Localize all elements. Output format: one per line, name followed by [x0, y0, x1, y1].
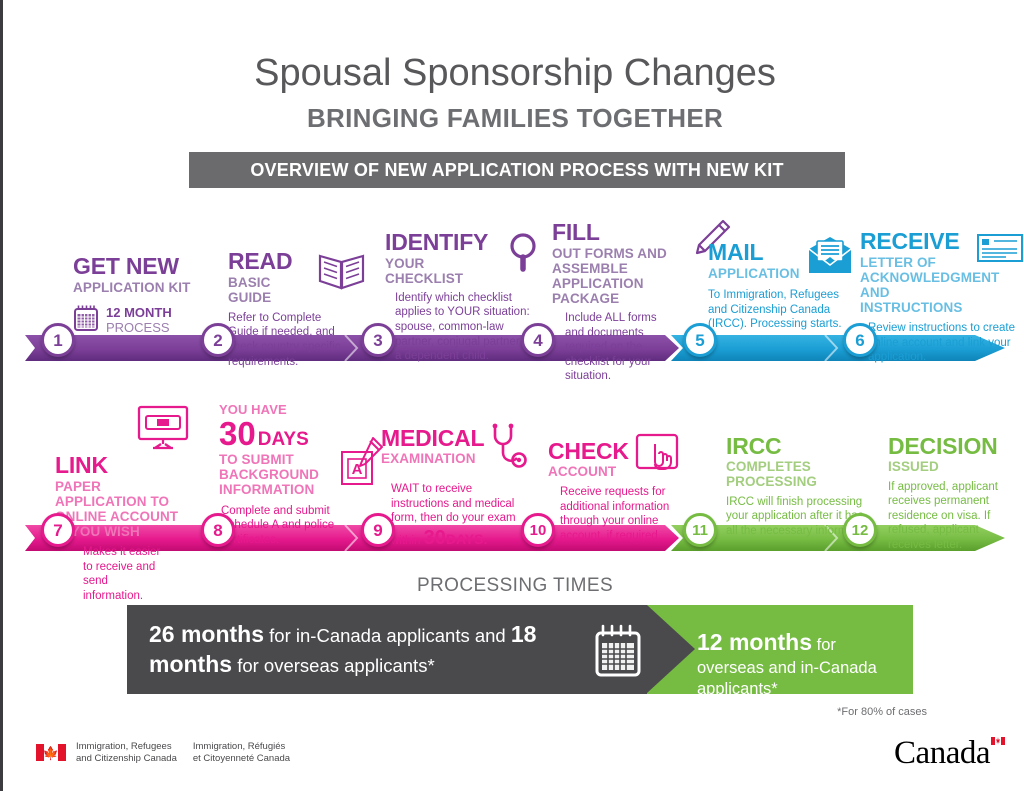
step-circle-5[interactable]: 5	[683, 323, 717, 357]
step-number-10: 10	[530, 523, 547, 538]
step-9-subheading: EXAMINATION	[381, 451, 484, 466]
overview-banner-text: OVERVIEW OF NEW APPLICATION PROCESS WITH…	[250, 160, 783, 181]
step-number-6: 6	[855, 332, 864, 349]
step-8-heading-number: 30	[219, 418, 256, 449]
step-circle-11[interactable]: 11	[683, 513, 717, 547]
step-6-heading: RECEIVE	[860, 230, 972, 253]
canada-wordmark-flag-icon	[991, 737, 1005, 745]
step-8[interactable]: YOU HAVE 30 DAYS TO SUBMIT BACKGROUND IN…	[219, 403, 379, 548]
step-8-heading-unit: DAYS	[258, 429, 309, 451]
step-number-5: 5	[695, 332, 704, 349]
envelope-icon	[805, 235, 855, 282]
step-10-body: Receive requests for additional informat…	[548, 485, 684, 543]
step-12-heading: DECISION	[888, 435, 1024, 458]
processing-times-left-text: 26 months for in-Canada applicants and 1…	[149, 620, 569, 680]
step-11-heading: IRCC	[726, 435, 886, 458]
letter-icon	[976, 232, 1024, 269]
dept-fr-line2: et Citoyenneté Canada	[193, 753, 290, 765]
magnifier-icon	[505, 231, 545, 278]
step-circle-7[interactable]: 7	[41, 513, 75, 547]
step-6-subheading: LETTER OF ACKNOWLEDGMENT AND INSTRUCTION…	[860, 255, 972, 315]
calendar-icon	[591, 623, 645, 684]
pt-left-num1: 26 months	[149, 621, 264, 647]
step-3-body: Identify which checklist applies to YOUR…	[385, 291, 537, 364]
step-circle-1[interactable]: 1	[41, 323, 75, 357]
canada-wordmark-text: Canada	[894, 735, 990, 771]
step-10-heading: CHECK	[548, 440, 629, 463]
step-circle-9[interactable]: 9	[361, 513, 395, 547]
step-1-badge-sub: PROCESS	[106, 320, 172, 335]
step-number-1: 1	[53, 332, 62, 349]
step-3-heading: IDENTIFY	[385, 231, 502, 254]
step-number-12: 12	[852, 523, 869, 538]
step-11-subheading: COMPLETES PROCESSING	[726, 459, 886, 489]
dept-en-line2: and Citizenship Canada	[76, 753, 177, 765]
canada-flag-icon: 🍁	[36, 744, 66, 761]
process-row-1: 1 2 3 4 5 6 GET NEW APPLICATION KIT	[3, 205, 1024, 380]
step-12-subheading: ISSUED	[888, 459, 1024, 474]
step-1-heading: GET NEW	[73, 255, 203, 278]
step-2-subheading: BASIC GUIDE	[228, 275, 312, 305]
monitor-link-icon	[135, 403, 191, 456]
step-number-9: 9	[373, 522, 382, 539]
page-subtitle: BRINGING FAMILIES TOGETHER	[3, 103, 1024, 134]
step-5[interactable]: MAIL APPLICATION To	[708, 241, 856, 332]
step-7-subheading: PAPER APPLICATION TO ONLINE ACCOUNT IF Y…	[55, 479, 191, 539]
step-1[interactable]: GET NEW APPLICATION KIT	[73, 255, 203, 337]
pt-right-num: 12 months	[697, 629, 812, 655]
step-number-3: 3	[373, 332, 382, 349]
process-row-2: 7 8 9 10 11 12 LINK	[3, 395, 1024, 570]
step-5-body: To Immigration, Refugees and Citizenship…	[708, 288, 844, 332]
step-9-body-emph: 30	[424, 527, 446, 549]
page-title: Spousal Sponsorship Changes	[3, 52, 1024, 95]
step-4-body: Include ALL forms and documents required…	[552, 311, 676, 384]
step-9-body: WAIT to receive instructions and medical…	[381, 482, 521, 551]
step-circle-2[interactable]: 2	[201, 323, 235, 357]
form-pencil-icon: A	[339, 436, 385, 495]
step-9[interactable]: MEDICAL EXAMINATION WAIT to receive inst…	[381, 427, 541, 551]
step-2-body: Refer to Complete Guide if needed, and c…	[228, 311, 346, 369]
step-12[interactable]: DECISION ISSUED If approved, applicant r…	[888, 435, 1024, 553]
stethoscope-icon	[488, 423, 528, 476]
step-7-heading: LINK	[55, 454, 205, 477]
step-circle-10[interactable]: 10	[521, 513, 555, 547]
processing-times-label: PROCESSING TIMES	[3, 575, 1024, 597]
dept-fr-line1: Immigration, Réfugiés	[193, 741, 290, 753]
processing-times-note: *For 80% of cases	[3, 706, 927, 718]
step-2-heading: READ	[228, 250, 312, 273]
step-5-subheading: APPLICATION	[708, 266, 800, 281]
step-circle-12[interactable]: 12	[843, 513, 877, 547]
step-8-subheading: TO SUBMIT BACKGROUND INFORMATION	[219, 452, 337, 497]
step-number-11: 11	[692, 523, 708, 538]
step-number-2: 2	[213, 332, 222, 349]
step-number-7: 7	[53, 522, 62, 539]
infographic-page: Spousal Sponsorship Changes BRINGING FAM…	[3, 0, 1024, 791]
step-3-subheading: YOUR CHECKLIST	[385, 256, 502, 286]
step-4[interactable]: FILL OUT FORMS AND ASSEMBLE APPLICATION …	[552, 221, 702, 384]
open-book-icon	[316, 250, 368, 297]
step-12-body: If approved, applicant receives permanen…	[888, 480, 1020, 553]
step-4-subheading: OUT FORMS AND ASSEMBLE APPLICATION PACKA…	[552, 246, 686, 306]
step-circle-6[interactable]: 6	[843, 323, 877, 357]
step-2[interactable]: READ BASIC GUIDE Refer to Complete Guide…	[228, 250, 368, 369]
maple-leaf-icon: 🍁	[43, 746, 59, 759]
step-number-8: 8	[213, 522, 222, 539]
step-1-subheading: APPLICATION KIT	[73, 280, 203, 295]
step-6-body: Review instructions to create online acc…	[860, 321, 1015, 365]
step-circle-3[interactable]: 3	[361, 323, 395, 357]
tablet-touch-icon	[634, 432, 680, 479]
step-9-body-emph-unit: DAYS.	[446, 531, 488, 547]
step-6[interactable]: RECEIVE LETTER OF ACKNOWLEDGMENT AND INS…	[860, 230, 1020, 365]
pt-left-mid: for in-Canada applicants and	[264, 625, 511, 646]
step-4-heading: FILL	[552, 221, 686, 244]
processing-times-arrow-point	[647, 605, 695, 693]
dept-en-line1: Immigration, Refugees	[76, 741, 177, 753]
overview-banner: OVERVIEW OF NEW APPLICATION PROCESS WITH…	[189, 152, 845, 188]
pt-left-end: for overseas applicants*	[232, 655, 435, 676]
canada-wordmark: Canada	[894, 735, 1005, 772]
step-number-4: 4	[533, 332, 542, 349]
step-8-body: Complete and submit Schedule A and polic…	[219, 504, 339, 548]
calendar-icon	[73, 304, 99, 337]
footer-department: 🍁 Immigration, Refugees and Citizenship …	[36, 741, 290, 764]
processing-times-banner: 26 months for in-Canada applicants and 1…	[127, 605, 913, 694]
processing-times-right-text: 12 months for overseas and in-Canada app…	[697, 628, 907, 701]
step-5-heading: MAIL	[708, 241, 800, 264]
step-circle-8[interactable]: 8	[201, 513, 235, 547]
step-1-badge-big: 12 MONTH	[106, 305, 172, 320]
step-9-heading: MEDICAL	[381, 427, 484, 450]
step-10-subheading: ACCOUNT	[548, 464, 629, 479]
step-circle-4[interactable]: 4	[521, 323, 555, 357]
